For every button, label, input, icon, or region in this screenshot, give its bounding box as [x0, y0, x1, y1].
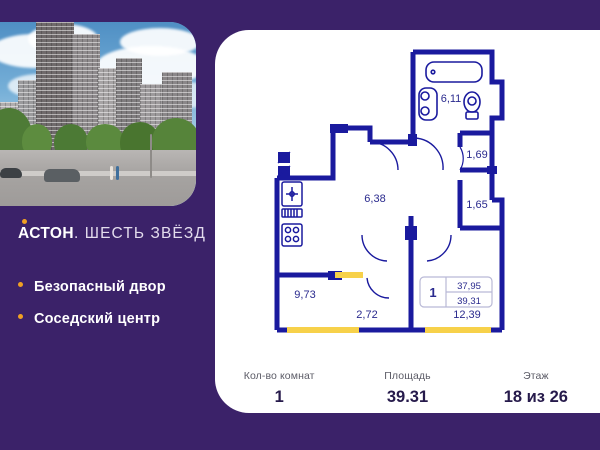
- sidewalk: [0, 171, 196, 176]
- lamp-post: [150, 134, 152, 178]
- brand-tagline: . ШЕСТЬ ЗВЁЗД: [74, 225, 206, 242]
- room-area-kitchen: 9,73: [294, 289, 315, 301]
- stat-floor: Этаж 18 из 26: [472, 370, 600, 407]
- floorplan-drawing[interactable]: 6,11 1,69 1,65 6,38 9,73 2,72 12,39 1 37…: [215, 30, 600, 360]
- feature-item: Соседский центр: [18, 311, 160, 327]
- bullet-dot-icon: [18, 314, 23, 319]
- stat-area: Площадь 39.31: [343, 370, 471, 407]
- car: [0, 168, 22, 178]
- room-area-living-room: 12,39: [453, 309, 481, 321]
- pedestrian: [116, 166, 119, 180]
- kitchen-sink-icon: [282, 182, 302, 206]
- brand-logo: АСТОН. ШЕСТЬ ЗВЁЗД: [18, 225, 206, 243]
- cloud: [120, 28, 196, 56]
- promo-panel: АСТОН. ШЕСТЬ ЗВЁЗД Безопасный двор Сосед…: [0, 0, 215, 450]
- summary-stats: Кол-во комнат 1 Площадь 39.31 Этаж 18 из…: [215, 370, 600, 407]
- feature-item: Безопасный двор: [18, 279, 166, 295]
- wall-hall-left: [277, 128, 370, 178]
- pedestrian: [110, 166, 113, 180]
- riser-icon: [278, 152, 290, 177]
- stat-label: Площадь: [343, 370, 471, 382]
- feature-label: Безопасный двор: [34, 279, 166, 295]
- feature-label: Соседский центр: [34, 311, 160, 327]
- area-badge: 1 37,95 39,31: [420, 277, 492, 307]
- badge-area-total: 37,95: [457, 281, 481, 292]
- stat-value: 39.31: [343, 388, 471, 407]
- stat-value: 1: [215, 388, 343, 407]
- room-area-storage: 1,65: [466, 199, 487, 211]
- room-area-wc: 1,69: [466, 149, 487, 161]
- brand-name: АСТОН: [18, 225, 74, 242]
- counter-icon: [282, 209, 302, 217]
- stat-value: 18 из 26: [472, 388, 600, 407]
- road: [0, 150, 196, 206]
- stat-room-count: Кол-во комнат 1: [215, 370, 343, 407]
- sink-icon: [419, 88, 437, 120]
- bathtub-icon: [426, 62, 482, 82]
- badge-room-count: 1: [429, 285, 436, 300]
- car: [44, 169, 80, 182]
- room-area-corridor: 2,72: [356, 309, 377, 321]
- stat-label: Этаж: [472, 370, 600, 382]
- bullet-dot-icon: [18, 282, 23, 287]
- stove-icon: [282, 224, 302, 246]
- toilet-icon: [464, 92, 480, 119]
- badge-area-full: 39,31: [457, 296, 481, 307]
- brand-accent-dot: [22, 219, 27, 224]
- building-photo: [0, 22, 196, 206]
- floorplan-card: 6,11 1,69 1,65 6,38 9,73 2,72 12,39 1 37…: [215, 30, 600, 413]
- room-area-hall: 6,38: [364, 193, 385, 205]
- wall-bath-left: [370, 52, 413, 142]
- stat-label: Кол-во комнат: [215, 370, 343, 382]
- room-area-bathroom: 6,11: [441, 93, 462, 105]
